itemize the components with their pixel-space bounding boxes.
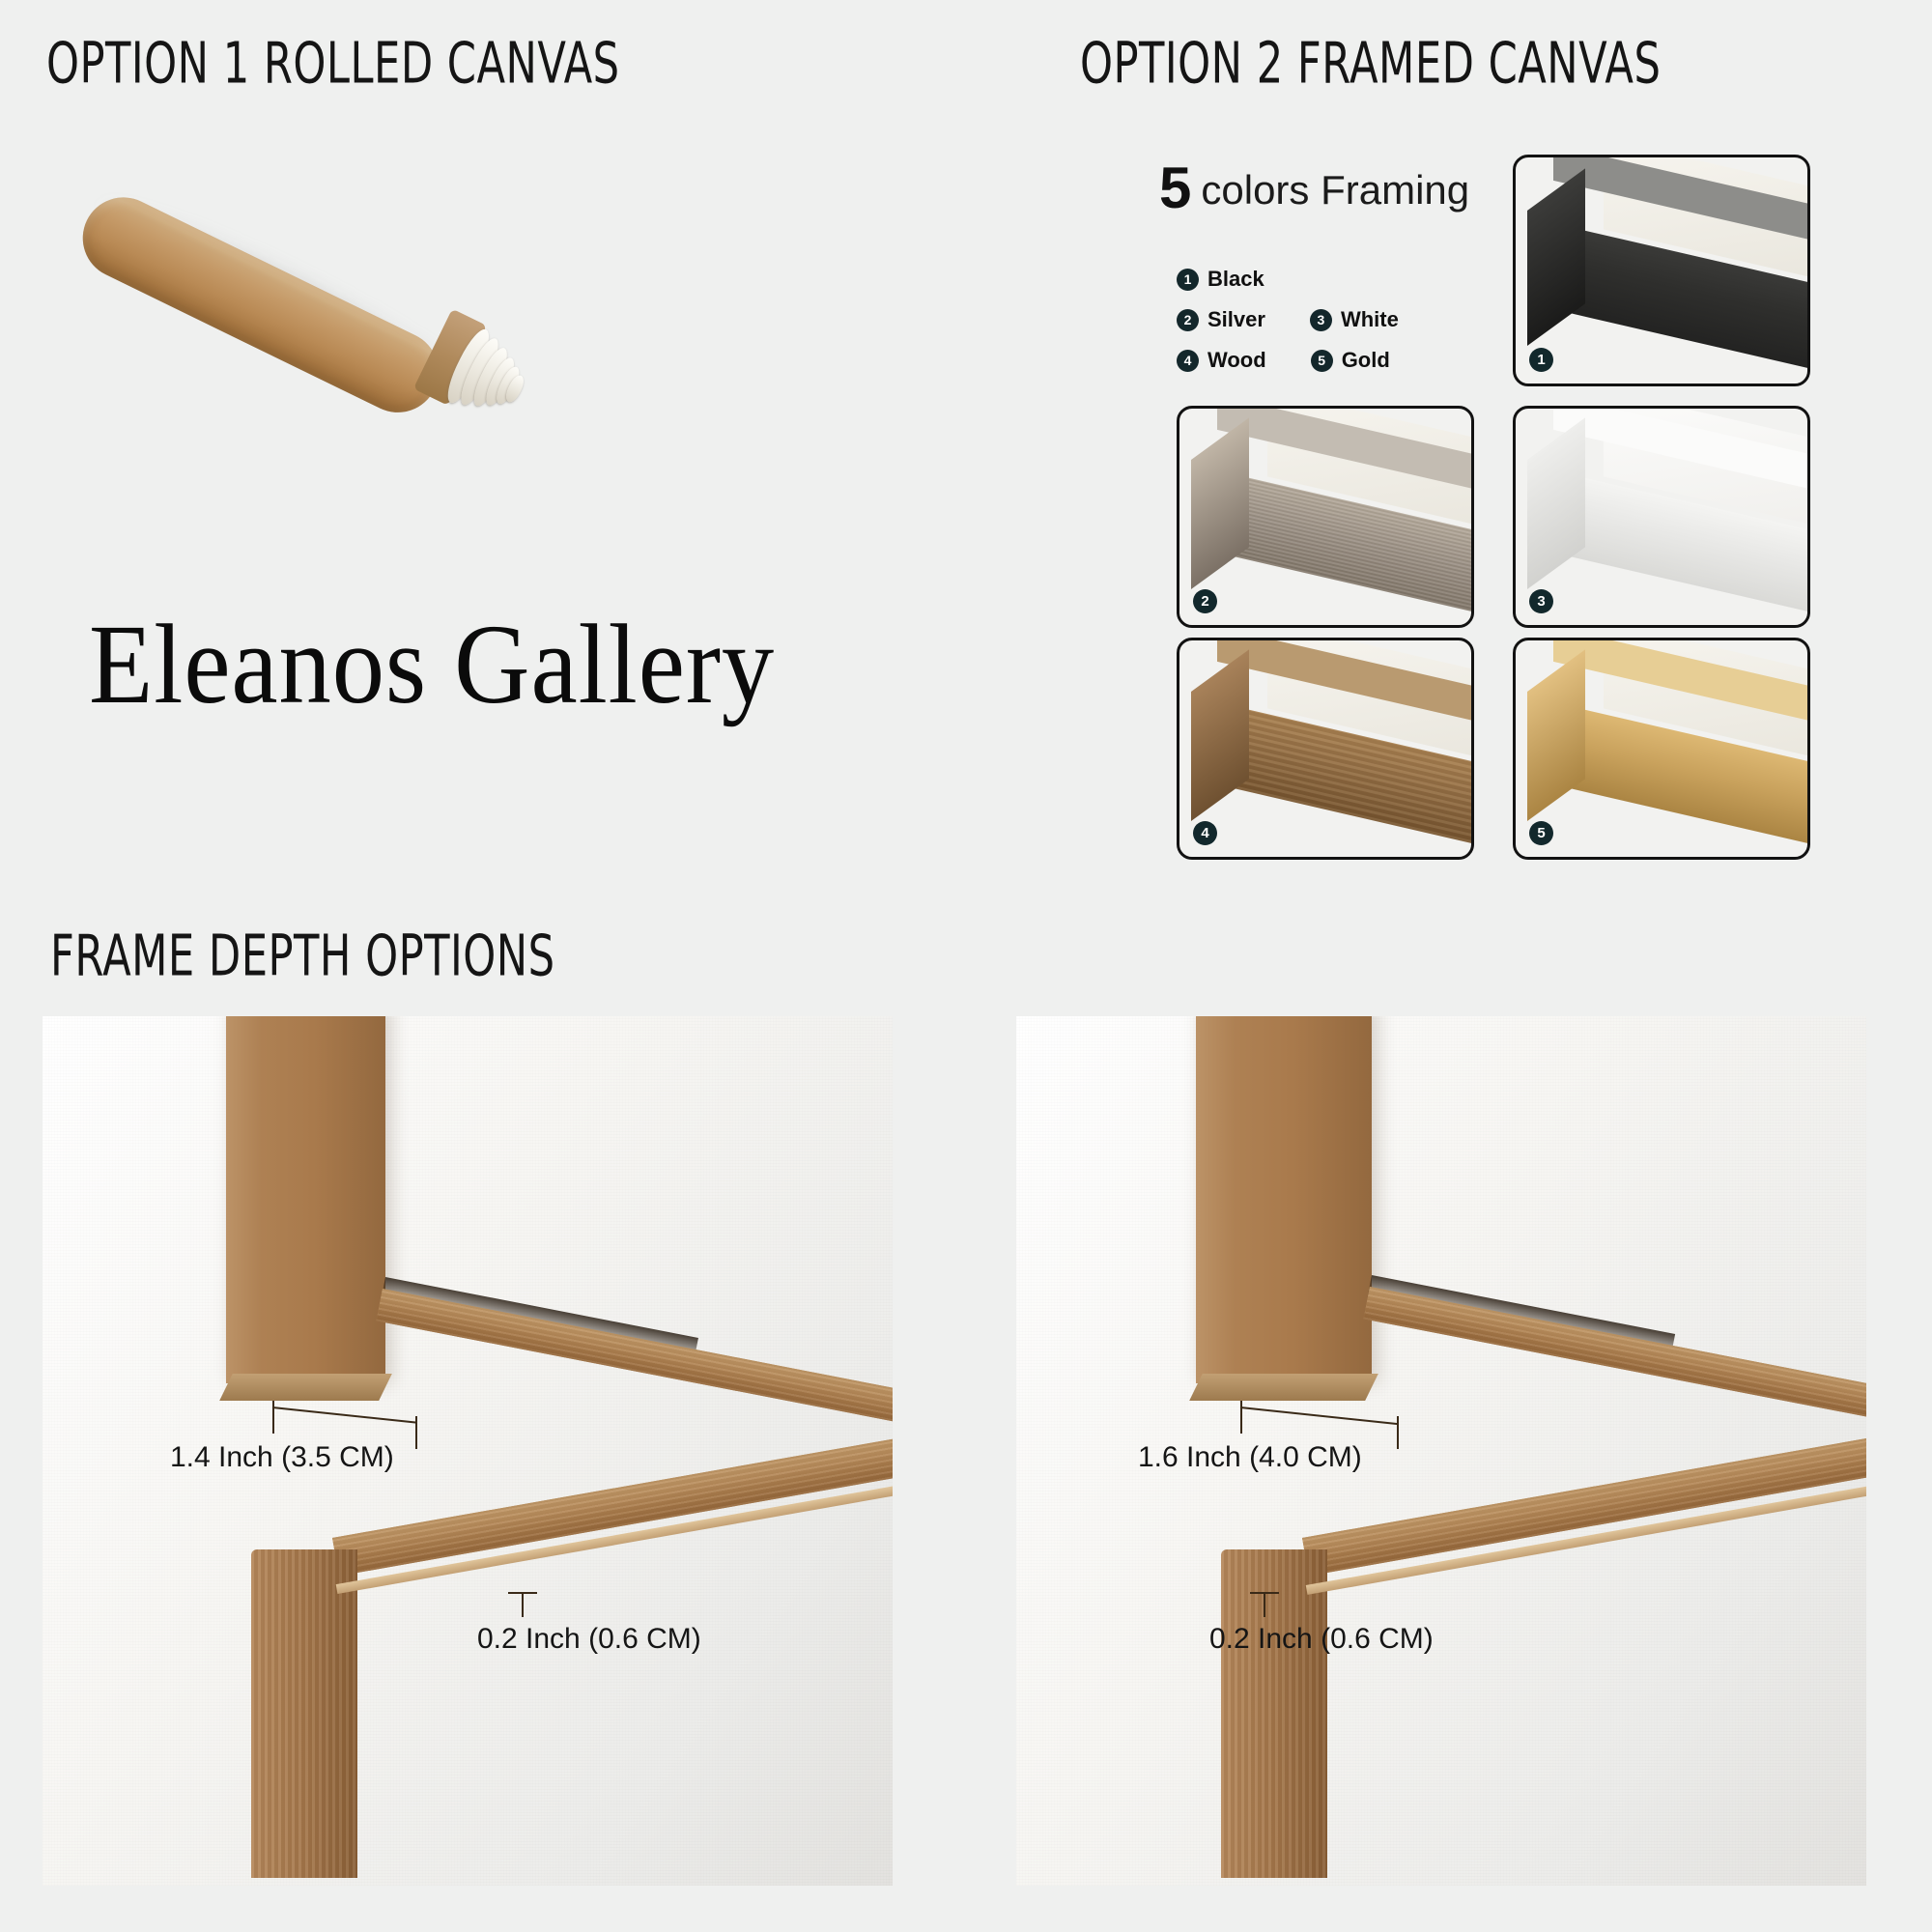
dimension-line [1250,1592,1279,1594]
frame-lower-stile [1221,1549,1327,1878]
depth-dimension-label: 1.4 Inch (3.5 CM) [170,1441,394,1474]
tube-open-end [413,309,546,435]
swatch-badge-number: 5 [1529,821,1553,845]
swatch-badge-number: 3 [1529,589,1553,613]
framing-title-text: colors Framing [1201,167,1469,213]
frame-side-face [1527,649,1585,821]
badge-number-icon: 1 [1177,269,1199,291]
legend-label: White [1341,307,1399,332]
framing-legend-row: 2 Silver 3 White [1177,307,1399,332]
heading-option-2: OPTION 2 FRAMED CANVAS [1080,29,1661,96]
framing-legend-row: 1 Black [1177,267,1264,292]
thickness-dimension-label: 0.2 Inch (0.6 CM) [477,1623,701,1656]
shipping-tube-icon [70,184,452,426]
badge-number-icon: 4 [1177,350,1199,372]
frame-swatch-wood[interactable]: 4 [1177,638,1474,860]
frame-side-face [1527,168,1585,346]
dimension-tick [522,1592,524,1617]
gold-frame-corner-photo [1516,640,1807,857]
swatch-badge-number: 1 [1529,348,1553,372]
frame-swatch-silver[interactable]: 2 [1177,406,1474,628]
legend-item-wood: 4 Wood [1177,348,1266,373]
wood-shading [226,1016,385,1383]
frame-stile-end-face [219,1374,392,1401]
legend-label: Wood [1207,348,1266,373]
wood-frame-corner-photo [1179,640,1471,857]
frame-side-face [1191,649,1249,821]
legend-label: Black [1207,267,1264,292]
heading-option-1: OPTION 1 ROLLED CANVAS [46,29,620,96]
legend-item-white: 3 White [1310,307,1399,332]
frame-side-face [1191,417,1249,589]
frame-vertical-stile [226,1016,385,1383]
frame-vertical-stile [1196,1016,1372,1383]
dimension-tick [1264,1592,1265,1617]
thickness-dimension-label: 0.2 Inch (0.6 CM) [1209,1623,1434,1656]
dimension-line [508,1592,537,1594]
depth-option-panel-1: 1.4 Inch (3.5 CM) 0.2 Inch (0.6 CM) [43,1016,893,1886]
framing-count: 5 [1159,156,1191,220]
legend-item-black: 1 Black [1177,267,1264,292]
frame-swatch-white[interactable]: 3 [1513,406,1810,628]
badge-number-icon: 2 [1177,309,1199,331]
framing-legend-row: 4 Wood 5 Gold [1177,348,1390,373]
frame-swatch-gold[interactable]: 5 [1513,638,1810,860]
dimension-tick [1397,1416,1399,1449]
swatch-badge-number: 4 [1193,821,1217,845]
silver-frame-corner-photo [1179,409,1471,625]
framing-colors-title: 5colors Framing [1159,155,1469,221]
badge-number-icon: 5 [1311,350,1333,372]
swatch-badge-number: 2 [1193,589,1217,613]
badge-number-icon: 3 [1310,309,1332,331]
legend-item-silver: 2 Silver [1177,307,1265,332]
legend-label: Gold [1342,348,1390,373]
frame-swatch-black[interactable]: 1 [1513,155,1810,386]
frame-side-face [1527,417,1585,589]
brand-logo-text: Eleanos Gallery [89,599,775,730]
white-frame-corner-photo [1516,409,1807,625]
black-frame-corner-photo [1516,157,1807,384]
frame-stile-end-face [1189,1374,1378,1401]
legend-item-gold: 5 Gold [1311,348,1390,373]
legend-label: Silver [1207,307,1265,332]
heading-frame-depth-options: FRAME DEPTH OPTIONS [50,922,555,988]
frame-lower-stile [251,1549,357,1878]
wood-shading [1196,1016,1372,1383]
depth-dimension-label: 1.6 Inch (4.0 CM) [1138,1441,1362,1474]
depth-option-panel-2: 1.6 Inch (4.0 CM) 0.2 Inch (0.6 CM) [1016,1016,1866,1886]
rolled-canvas-tube-image [58,145,580,396]
